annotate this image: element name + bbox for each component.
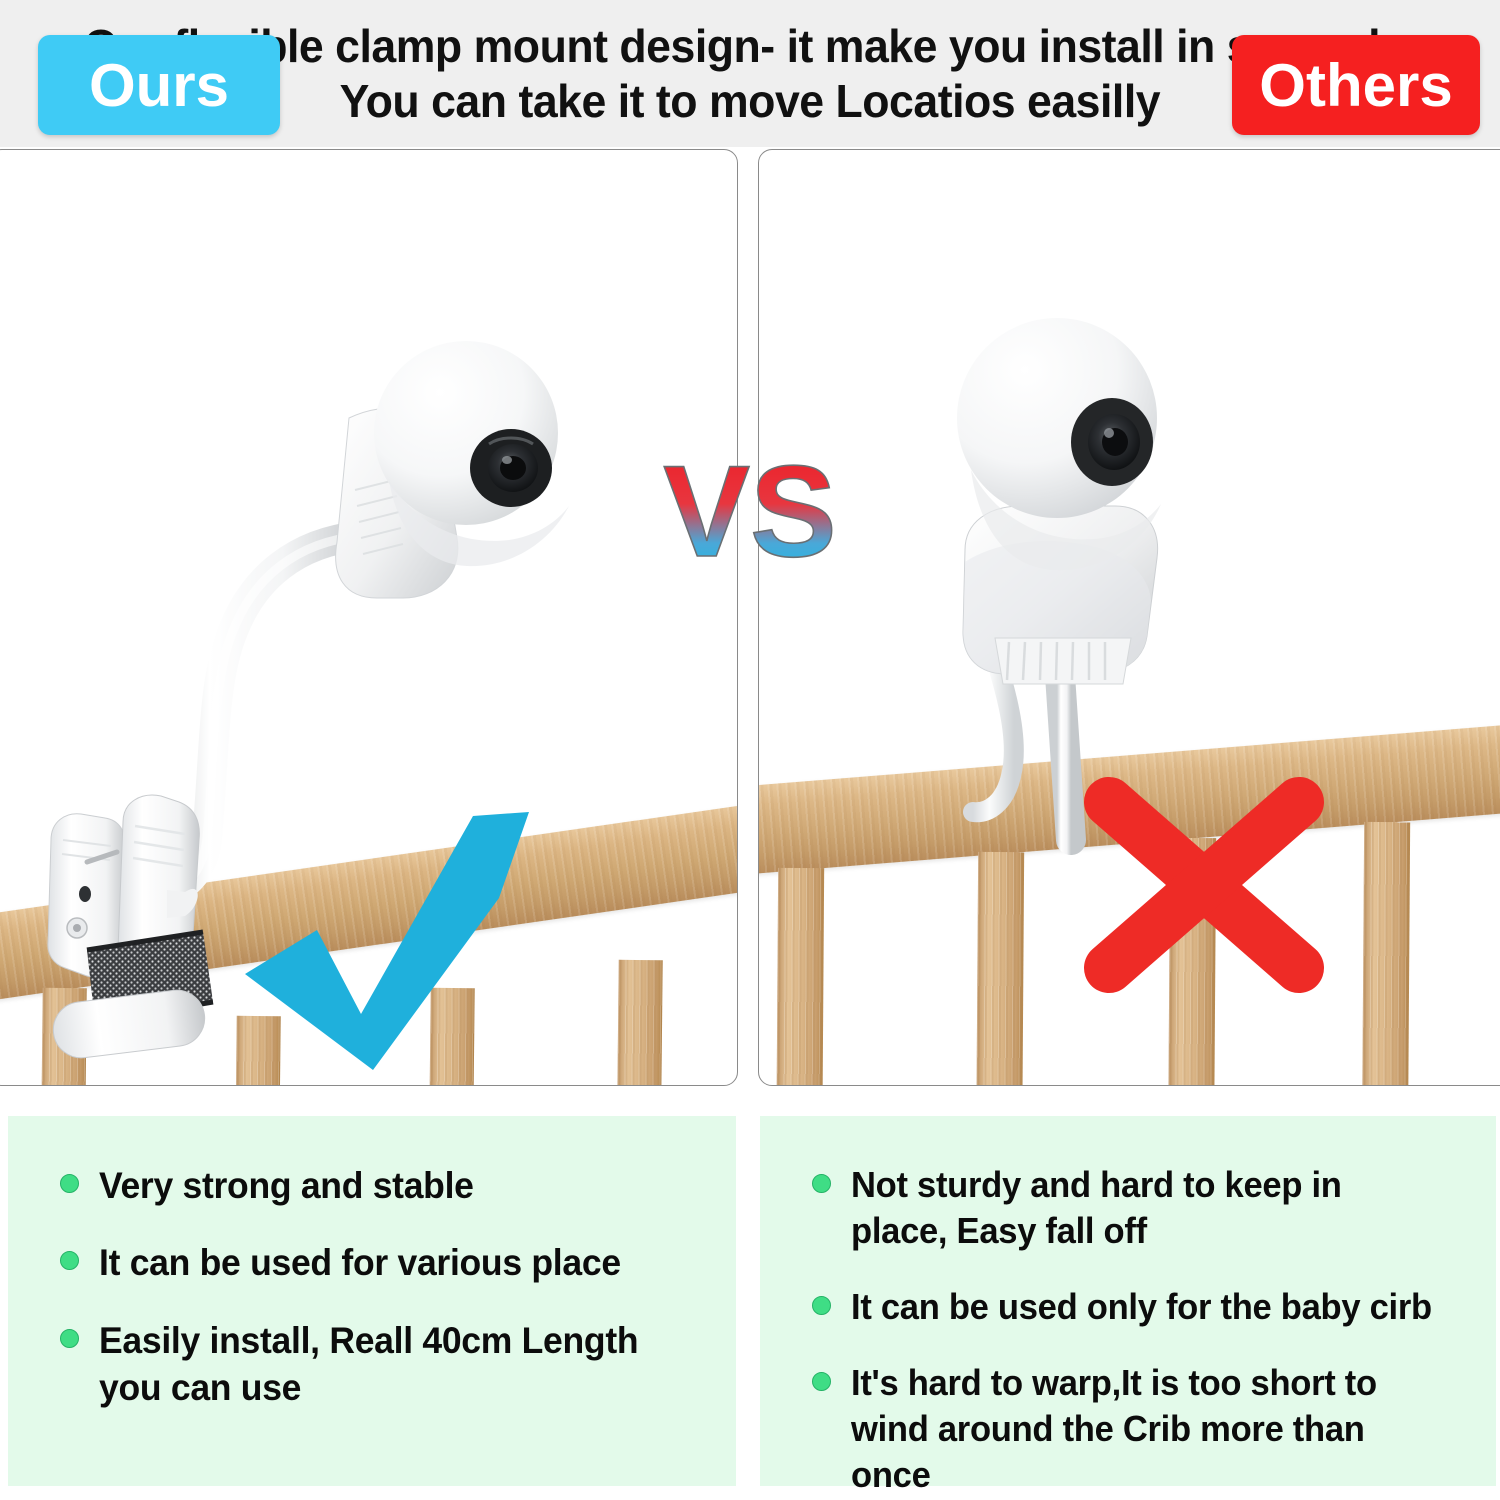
list-item-text: It can be used only for the baby cirb [851,1284,1432,1330]
bullet-dot-icon [60,1174,79,1193]
badge-ours: Ours [38,35,280,135]
benefits-list-ours: Very strong and stable It can be used fo… [8,1116,736,1486]
list-item: It's hard to warp,It is too short to win… [790,1360,1466,1498]
list-item-text: It's hard to warp,It is too short to win… [851,1360,1441,1498]
clamp-mount [48,795,213,1061]
list-item: It can be used only for the baby cirb [790,1284,1466,1330]
bullet-dot-icon [812,1296,831,1315]
vs-label: VS [630,452,870,572]
drawbacks-list-others: Not sturdy and hard to keep in place, Ea… [760,1116,1496,1486]
scene-ours [0,150,737,1085]
bullet-dot-icon [60,1329,79,1348]
list-item-text: Not sturdy and hard to keep in place, Ea… [851,1162,1441,1254]
list-item: Very strong and stable [38,1162,706,1209]
list-item: It can be used for various place [38,1239,706,1286]
cross-mark-icon [1071,770,1341,1000]
list-item-text: It can be used for various place [99,1239,621,1286]
list-item-text: Very strong and stable [99,1162,474,1209]
bullet-dot-icon [60,1251,79,1270]
badge-others: Others [1232,35,1480,135]
clamp-pad [50,987,208,1061]
bullet-dot-icon [812,1372,831,1391]
comparison-panel-ours [0,149,738,1086]
list-item: Easily install, Reall 40cm Length you ca… [38,1317,706,1412]
bullet-dot-icon [812,1174,831,1193]
list-item-text: Easily install, Reall 40cm Length you ca… [99,1317,682,1412]
check-mark-icon [237,770,537,1085]
camera-lens [1071,398,1153,486]
header-line-2: You can take it to move Locatios easilly [340,74,1160,128]
vs-text: VS [663,452,836,572]
list-item: Not sturdy and hard to keep in place, Ea… [790,1162,1466,1254]
header-line-1: Our flexible clamp mount design- it make… [84,19,1417,73]
camera-lens [470,429,552,507]
scene-others [759,150,1500,1085]
comparison-panel-others [758,149,1500,1086]
